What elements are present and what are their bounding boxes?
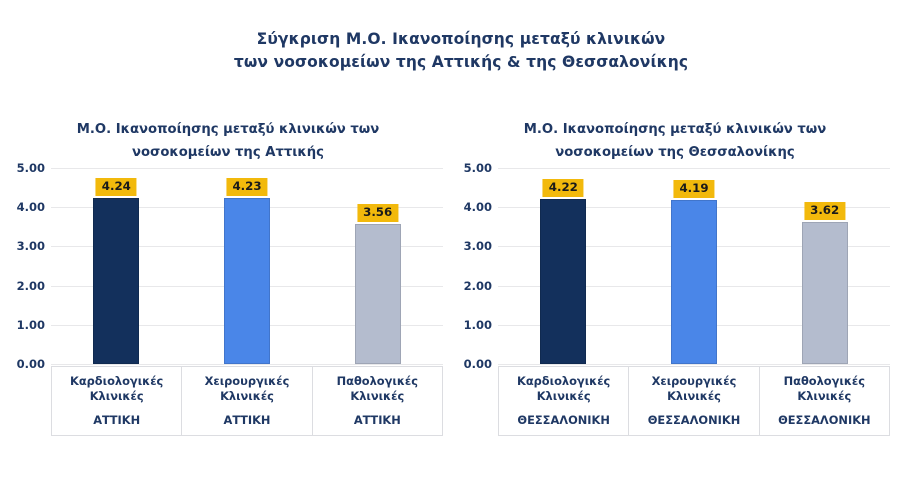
y-tick-label: 2.00: [17, 279, 45, 293]
y-tick-label: 5.00: [17, 161, 45, 175]
y-tick-label: 1.00: [464, 318, 492, 332]
category-label-line-1: Παθολογικές: [784, 374, 865, 389]
category-region: ΘΕΣΣΑΛΟΝΙΚΗ: [778, 413, 870, 428]
chart-panel-attica: Μ.Ο. Ικανοποίησης μεταξύ κλινικών των νο…: [5, 112, 451, 442]
y-axis-attica: 5.00 4.00 3.00 2.00 1.00 0.00: [5, 168, 51, 364]
bar-fill: [671, 200, 717, 364]
category-label-line-2: Κλινικές: [667, 389, 721, 404]
bar-value-label: 4.24: [96, 178, 137, 196]
axis-baseline: [51, 364, 443, 365]
category-axis-thessaloniki: Καρδιολογικές Κλινικές ΘΕΣΣΑΛΟΝΙΚΗ Χειρο…: [498, 366, 890, 436]
category-label-line-2: Κλινικές: [797, 389, 851, 404]
y-tick-label: 3.00: [464, 239, 492, 253]
category-label-line-2: Κλινικές: [350, 389, 404, 404]
chart-title-thessaloniki-line-1: Μ.Ο. Ικανοποίησης μεταξύ κλινικών των: [452, 118, 898, 141]
bar[interactable]: 4.22: [540, 199, 586, 364]
bar-fill: [540, 199, 586, 364]
category-region: ΑΤΤΙΚΗ: [354, 413, 401, 428]
bar[interactable]: 3.62: [802, 222, 848, 364]
category-region: ΑΤΤΙΚΗ: [93, 413, 140, 428]
category-region: ΑΤΤΙΚΗ: [224, 413, 271, 428]
bars-attica: 4.24 4.23 3.56: [51, 168, 443, 364]
bar-slot: 4.22: [498, 168, 629, 364]
category-cell: Παθολογικές Κλινικές ΑΤΤΙΚΗ: [313, 367, 442, 435]
axis-baseline: [498, 364, 890, 365]
category-region: ΘΕΣΣΑΛΟΝΙΚΗ: [517, 413, 609, 428]
y-tick-label: 4.00: [17, 200, 45, 214]
bar[interactable]: 4.19: [671, 200, 717, 364]
category-label-line-1: Παθολογικές: [337, 374, 418, 389]
bar-fill: [355, 224, 401, 364]
bar-chart-thessaloniki: 5.00 4.00 3.00 2.00 1.00 0.00 4.22: [452, 168, 898, 440]
y-axis-thessaloniki: 5.00 4.00 3.00 2.00 1.00 0.00: [452, 168, 498, 364]
bar[interactable]: 4.24: [93, 198, 139, 364]
bar[interactable]: 4.23: [224, 198, 270, 364]
bar-slot: 4.19: [629, 168, 760, 364]
y-tick-label: 1.00: [17, 318, 45, 332]
category-cell: Καρδιολογικές Κλινικές ΘΕΣΣΑΛΟΝΙΚΗ: [499, 367, 629, 435]
category-cell: Καρδιολογικές Κλινικές ΑΤΤΙΚΗ: [52, 367, 182, 435]
plot-area-attica: 4.24 4.23 3.56: [51, 168, 443, 364]
bars-thessaloniki: 4.22 4.19 3.62: [498, 168, 890, 364]
category-label-line-2: Κλινικές: [537, 389, 591, 404]
category-region: ΘΕΣΣΑΛΟΝΙΚΗ: [648, 413, 740, 428]
y-tick-label: 4.00: [464, 200, 492, 214]
category-cell: Παθολογικές Κλινικές ΘΕΣΣΑΛΟΝΙΚΗ: [760, 367, 889, 435]
bar[interactable]: 3.56: [355, 224, 401, 364]
chart-title-thessaloniki-line-2: νοσοκομείων της Θεσσαλονίκης: [452, 141, 898, 164]
plot-area-thessaloniki: 4.22 4.19 3.62: [498, 168, 890, 364]
category-label-line-1: Χειρουργικές: [205, 374, 290, 389]
chart-title-attica-line-1: Μ.Ο. Ικανοποίησης μεταξύ κλινικών των: [5, 118, 451, 141]
bar-slot: 3.62: [759, 168, 890, 364]
y-tick-label: 2.00: [464, 279, 492, 293]
chart-title-thessaloniki: Μ.Ο. Ικανοποίησης μεταξύ κλινικών των νο…: [452, 112, 898, 162]
category-cell: Χειρουργικές Κλινικές ΘΕΣΣΑΛΟΝΙΚΗ: [629, 367, 759, 435]
y-tick-label: 5.00: [464, 161, 492, 175]
page-title: Σύγκριση Μ.Ο. Ικανοποίησης μεταξύ κλινικ…: [0, 28, 922, 74]
chart-title-attica: Μ.Ο. Ικανοποίησης μεταξύ κλινικών των νο…: [5, 112, 451, 162]
chart-panel-thessaloniki: Μ.Ο. Ικανοποίησης μεταξύ κλινικών των νο…: [452, 112, 898, 442]
bar-chart-attica: 5.00 4.00 3.00 2.00 1.00 0.00 4.24: [5, 168, 451, 440]
bar-fill: [224, 198, 270, 364]
bar-fill: [93, 198, 139, 364]
category-cell: Χειρουργικές Κλινικές ΑΤΤΙΚΗ: [182, 367, 312, 435]
category-axis-attica: Καρδιολογικές Κλινικές ΑΤΤΙΚΗ Χειρουργικ…: [51, 366, 443, 436]
category-label-line-1: Καρδιολογικές: [517, 374, 610, 389]
page-title-line-2: των νοσοκομείων της Αττικής & της Θεσσαλ…: [0, 51, 922, 74]
y-tick-label: 3.00: [17, 239, 45, 253]
bar-value-label: 3.56: [357, 204, 398, 222]
bar-value-label: 4.23: [226, 178, 267, 196]
chart-title-attica-line-2: νοσοκομείων της Αττικής: [5, 141, 451, 164]
bar-slot: 3.56: [312, 168, 443, 364]
bar-value-label: 3.62: [804, 202, 845, 220]
y-tick-label: 0.00: [17, 357, 45, 371]
category-label-line-2: Κλινικές: [220, 389, 274, 404]
page-title-line-1: Σύγκριση Μ.Ο. Ικανοποίησης μεταξύ κλινικ…: [0, 28, 922, 51]
y-tick-label: 0.00: [464, 357, 492, 371]
category-label-line-1: Χειρουργικές: [652, 374, 737, 389]
bar-slot: 4.23: [182, 168, 313, 364]
bar-value-label: 4.19: [673, 180, 714, 198]
category-label-line-2: Κλινικές: [90, 389, 144, 404]
bar-fill: [802, 222, 848, 364]
category-label-line-1: Καρδιολογικές: [70, 374, 163, 389]
bar-slot: 4.24: [51, 168, 182, 364]
bar-value-label: 4.22: [543, 179, 584, 197]
